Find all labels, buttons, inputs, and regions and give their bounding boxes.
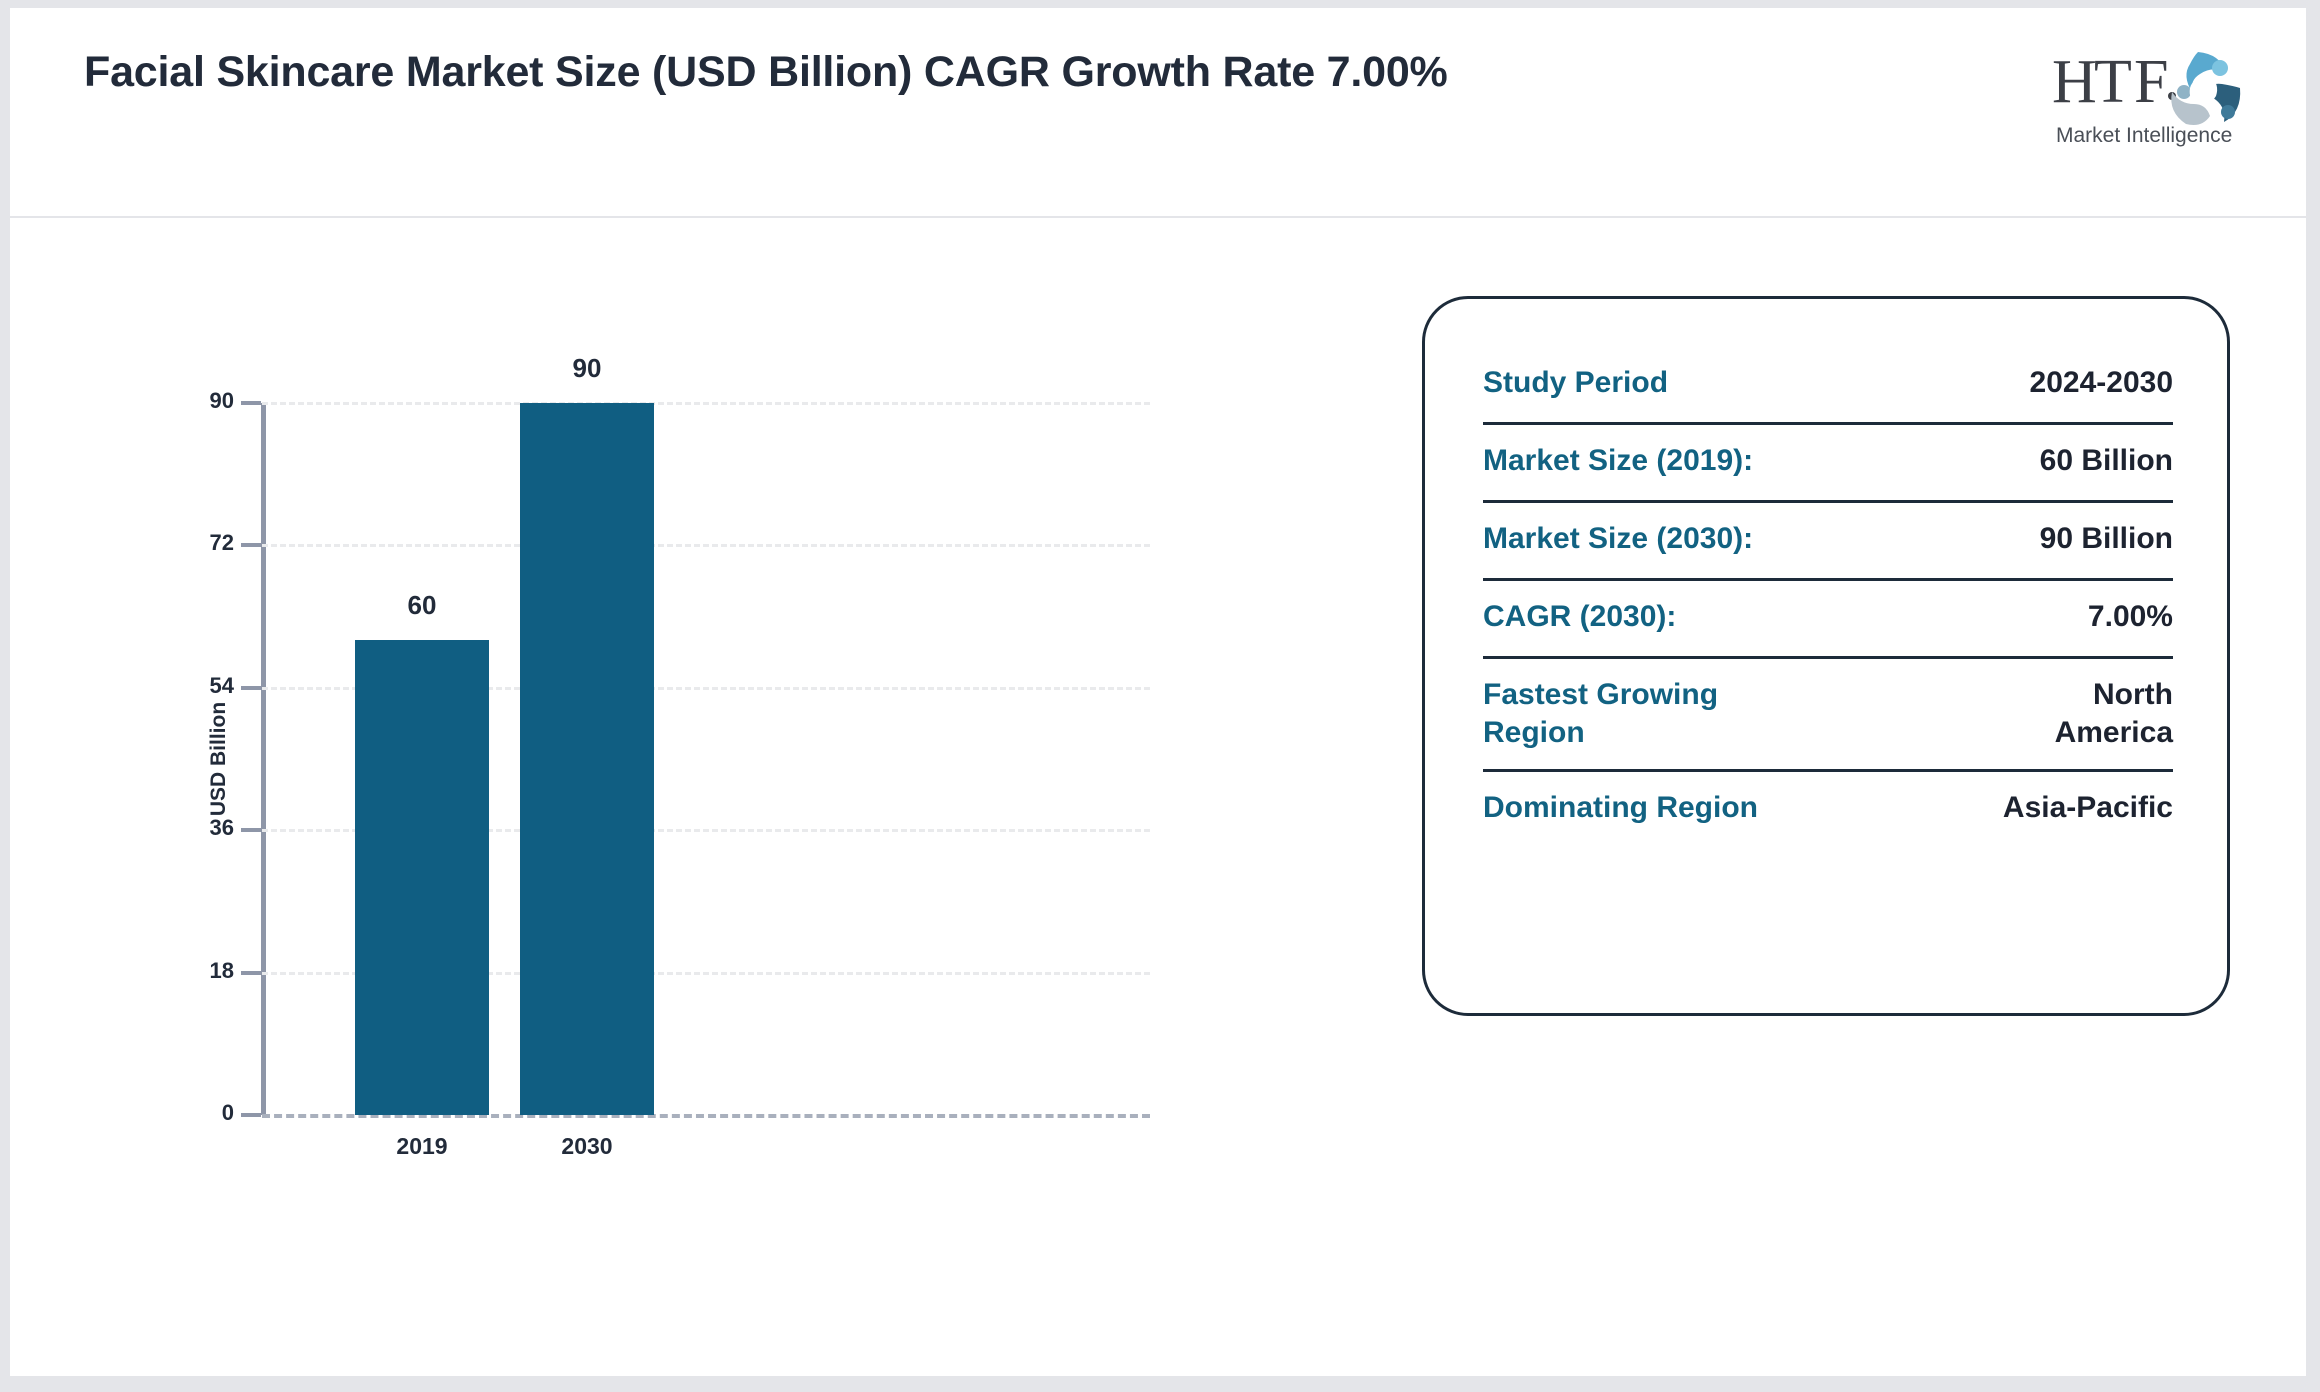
tick-mark	[241, 543, 261, 547]
gridline	[262, 402, 1150, 405]
y-tick-label: 36	[210, 815, 234, 841]
market-summary-list: Study Period 2024-2030 Market Size (2019…	[1483, 347, 2173, 847]
y-axis-line	[261, 403, 266, 1115]
gridline	[262, 544, 1150, 547]
page-title: Facial Skincare Market Size (USD Billion…	[84, 46, 1484, 98]
htf-market-intelligence-logo: H T F Market Intelligence	[2050, 44, 2250, 154]
svg-text:T: T	[2094, 48, 2132, 116]
info-value: Asia-Pacific	[2003, 789, 2173, 827]
info-value: 90 Billion	[2040, 520, 2173, 558]
info-label: Market Size (2019):	[1483, 442, 1753, 480]
tick-mark	[241, 971, 261, 975]
info-label: CAGR (2030):	[1483, 598, 1676, 636]
info-row-fastest-growing-region: Fastest Growing Region North America	[1483, 659, 2173, 772]
y-axis-label: USD Billion	[207, 702, 231, 816]
y-tick-label: 18	[210, 958, 234, 984]
info-row-market-size-2019: Market Size (2019): 60 Billion	[1483, 425, 2173, 503]
info-label: Dominating Region	[1483, 789, 1758, 827]
x-tick-label-2019: 2019	[355, 1133, 489, 1160]
info-value: 60 Billion	[2040, 442, 2173, 480]
svg-text:F: F	[2134, 48, 2168, 116]
x-tick-label-2030: 2030	[520, 1133, 654, 1160]
plot-area: USD Billion 90 72 54 36	[262, 403, 1150, 1115]
info-row-cagr-2030: CAGR (2030): 7.00%	[1483, 581, 2173, 659]
svg-text:Market Intelligence: Market Intelligence	[2056, 124, 2232, 147]
info-row-dominating-region: Dominating Region Asia-Pacific	[1483, 772, 2173, 847]
bar-chart: USD Billion 90 72 54 36	[10, 218, 1310, 1376]
report-page: Facial Skincare Market Size (USD Billion…	[10, 8, 2306, 1376]
y-tick-label: 54	[210, 673, 234, 699]
y-tick-label: 90	[210, 388, 234, 414]
bar-2030[interactable]: 90	[520, 403, 654, 1115]
info-value: 2024-2030	[2030, 364, 2173, 402]
tick-mark	[241, 828, 261, 832]
info-label: Study Period	[1483, 364, 1668, 402]
bar-value-label: 90	[520, 353, 654, 384]
info-label: Market Size (2030):	[1483, 520, 1753, 558]
market-summary-card: Study Period 2024-2030 Market Size (2019…	[1422, 296, 2230, 1016]
y-tick-label: 72	[210, 530, 234, 556]
tick-mark	[241, 686, 261, 690]
bar-value-label: 60	[355, 590, 489, 621]
info-row-study-period: Study Period 2024-2030	[1483, 347, 2173, 425]
bar-2019[interactable]: 60	[355, 640, 489, 1115]
info-label: Fastest Growing Region	[1483, 676, 1743, 753]
info-value: 7.00%	[2088, 598, 2173, 636]
info-row-market-size-2030: Market Size (2030): 90 Billion	[1483, 503, 2173, 581]
info-value: North America	[1973, 676, 2173, 753]
svg-text:H: H	[2052, 48, 2097, 116]
y-tick-label: 0	[222, 1100, 234, 1126]
page-header: Facial Skincare Market Size (USD Billion…	[10, 8, 2306, 218]
tick-mark	[241, 1113, 261, 1117]
tick-mark	[241, 401, 261, 405]
